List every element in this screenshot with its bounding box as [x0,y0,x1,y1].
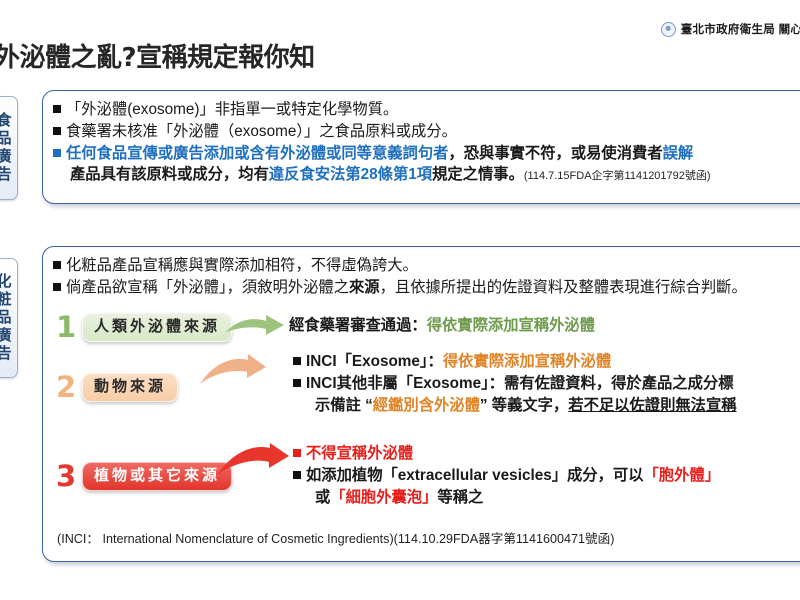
text-run: ，且依據所提出的佐證資料及整體表現進行綜合判斷。 [380,279,747,296]
bullet-line: 倘產品欲宣稱「外泌體」，須敘明外泌體之來源，且依據所提出的佐證資料及整體表現進行… [53,277,800,298]
source-text-1: 經食藥署審查通過：得依實際添加宣稱外泌體 [289,315,595,336]
source-line: INCI其他非屬「Exosome」：需有佐證資料，得於產品之成分標 [293,373,737,394]
arrow-right-orange-icon [198,354,268,388]
text-run: 或 [315,489,330,506]
black-square-bullet-icon [293,357,301,365]
bullet-line: 食藥署未核准「外泌體（exosome）」之食品原料或成分。 [53,121,800,142]
arrow-right-red-icon [215,443,291,479]
text-run: 化粧品產品宣稱應與實際添加相符，不得虛偽誇大。 [66,257,418,274]
text-run: ” 等義文字， [480,397,568,414]
food-bullet-list: 「外泌體(exosome)」非指單一或特定化學物質。食藥署未核准「外泌體（exo… [53,99,800,164]
text-run: INCI「Exosome」： [306,353,443,370]
bullet-text: 「外泌體(exosome)」非指單一或特定化學物質。 [66,99,800,120]
slide-root: ❁ 臺北市政府衛生局 關心您 外泌體之亂?宣稱規定報你知 食品廣告 化粧品廣告 … [0,0,800,600]
side-tab-food-advertising[interactable]: 食品廣告 [0,96,18,200]
text-run: 得依實際添加宣稱外泌體 [427,317,595,334]
bullet-text: 任何食品宣傳或廣告添加或含有外泌體或同等意義詞句者，恐與事實不符，或易使消費者誤… [66,143,800,164]
side-tab-cosmetic-label: 化粧品廣告 [0,273,11,363]
black-square-bullet-icon [53,127,61,135]
source-line-text: 示備註 “經鑑別含外泌體” 等義文字，若不足以佐證則無法宣稱 [293,395,737,416]
black-square-bullet-icon [53,283,61,291]
source-line-text: 或「細胞外囊泡」等稱之 [293,487,720,508]
side-tab-food-label: 食品廣告 [0,112,11,184]
text-run: 違反食安法第28條第1項 [269,166,432,183]
organization-name: 臺北市政府衛生局 關心您 [681,21,800,37]
text-run: 得依實際添加宣稱外泌體 [443,353,611,370]
text-run: (114.7.15FDA企字第1141201792號函) [524,170,711,182]
arrow-right-green-icon [224,313,286,339]
source-number-1: 1 [56,313,76,342]
source-pill-2: 動物來源 [82,373,178,402]
black-square-bullet-icon [293,471,301,479]
page-title: 外泌體之亂?宣稱規定報你知 [0,37,315,74]
text-run: 不得宣稱外泌體 [306,445,413,462]
blue-square-bullet-icon [53,149,61,157]
source-pill-1: 人類外泌體來源 [82,313,232,342]
source-line-text: INCI「Exosome」：得依實際添加宣稱外泌體 [306,351,737,372]
source-line-text: 經食藥署審查通過：得依實際添加宣稱外泌體 [289,315,595,336]
source-line: 如添加植物「extracellular vesicles」成分，可以「胞外體」 [293,465,720,486]
source-line: 示備註 “經鑑別含外泌體” 等義文字，若不足以佐證則無法宣稱 [293,395,737,416]
side-tab-cosmetic-advertising[interactable]: 化粧品廣告 [0,258,18,378]
source-row-3: 3 植物或其它來源 [56,462,232,491]
text-run: ，恐與事實不符，或易使消費者 [448,145,662,162]
source-pill-3: 植物或其它來源 [82,462,232,491]
red-square-bullet-icon [293,449,301,457]
text-run: INCI其他非屬「Exosome」：需有佐證資料，得於產品之成分標 [306,375,734,392]
text-run: 如添加植物「extracellular vesicles」成分，可以 [306,467,644,484]
text-run: 經食藥署審查通過： [289,317,427,334]
bullet-line: 任何食品宣傳或廣告添加或含有外泌體或同等意義詞句者，恐與事實不符，或易使消費者誤… [53,143,800,164]
source-line: INCI「Exosome」：得依實際添加宣稱外泌體 [293,351,737,372]
black-square-bullet-icon [293,379,301,387]
source-line-text: 不得宣稱外泌體 [306,443,720,464]
text-run: 食藥署未核准「外泌體（exosome）」之食品原料或成分。 [66,123,457,140]
bullet-line: 化粧品產品宣稱應與實際添加相符，不得虛偽誇大。 [53,255,800,276]
text-run: 來源 [349,279,380,296]
text-run: 「細胞外囊泡」 [330,489,437,506]
bullet-line: 「外泌體(exosome)」非指單一或特定化學物質。 [53,99,800,120]
text-run: 示備註 “ [315,397,373,414]
source-text-2: INCI「Exosome」：得依實際添加宣稱外泌體INCI其他非屬「Exosom… [293,351,737,416]
source-number-2: 2 [56,373,76,402]
text-run: 「胞外體」 [644,467,721,484]
text-run: 產品具有該原料或成分，均有 [70,166,269,183]
text-run: 等稱之 [437,489,483,506]
source-line-text: INCI其他非屬「Exosome」：需有佐證資料，得於產品之成分標 [306,373,737,394]
black-square-bullet-icon [53,105,61,113]
source-line-text: 如添加植物「extracellular vesicles」成分，可以「胞外體」 [306,465,720,486]
source-text-3: 不得宣稱外泌體如添加植物「extracellular vesicles」成分，可… [293,443,720,508]
source-number-3: 3 [56,462,76,491]
source-row-1: 1 人類外泌體來源 [56,313,232,342]
bullet-text: 食藥署未核准「外泌體（exosome）」之食品原料或成分。 [66,121,800,142]
cosmetic-footnote: (INCI： International Nomenclature of Cos… [57,528,614,547]
food-continuation-line: 產品具有該原料或成分，均有違反食安法第28條第1項規定之情事。(114.7.15… [53,164,800,185]
bullet-text: 倘產品欲宣稱「外泌體」，須敘明外泌體之來源，且依據所提出的佐證資料及整體表現進行… [66,277,800,298]
text-run: 「外泌體(exosome)」非指單一或特定化學物質。 [66,101,398,118]
text-run: 經鑑別含外泌體 [373,397,480,414]
text-run: 誤解 [663,145,694,162]
cosmetic-bullet-list: 化粧品產品宣稱應與實際添加相符，不得虛偽誇大。倘產品欲宣稱「外泌體」，須敘明外泌… [53,255,800,298]
source-row-2: 2 動物來源 [56,373,178,402]
source-line: 或「細胞外囊泡」等稱之 [293,487,720,508]
text-run: 規定之情事。 [432,166,524,183]
text-run: 若不足以佐證則無法宣稱 [568,397,736,414]
text-run: 倘產品欲宣稱「外泌體」，須敘明外泌體之 [66,279,349,296]
cosmetic-advertising-panel: 化粧品產品宣稱應與實際添加相符，不得虛偽誇大。倘產品欲宣稱「外泌體」，須敘明外泌… [42,246,800,562]
bullet-text: 化粧品產品宣稱應與實際添加相符，不得虛偽誇大。 [66,255,800,276]
text-run: 任何食品宣傳或廣告添加或含有外泌體或同等意義詞句者 [66,145,448,162]
source-line: 經食藥署審查通過：得依實際添加宣稱外泌體 [289,315,595,336]
source-line: 不得宣稱外泌體 [293,443,720,464]
seal-icon: ❁ [661,22,676,37]
black-square-bullet-icon [53,261,61,269]
food-advertising-panel: 「外泌體(exosome)」非指單一或特定化學物質。食藥署未核准「外泌體（exo… [42,90,800,204]
